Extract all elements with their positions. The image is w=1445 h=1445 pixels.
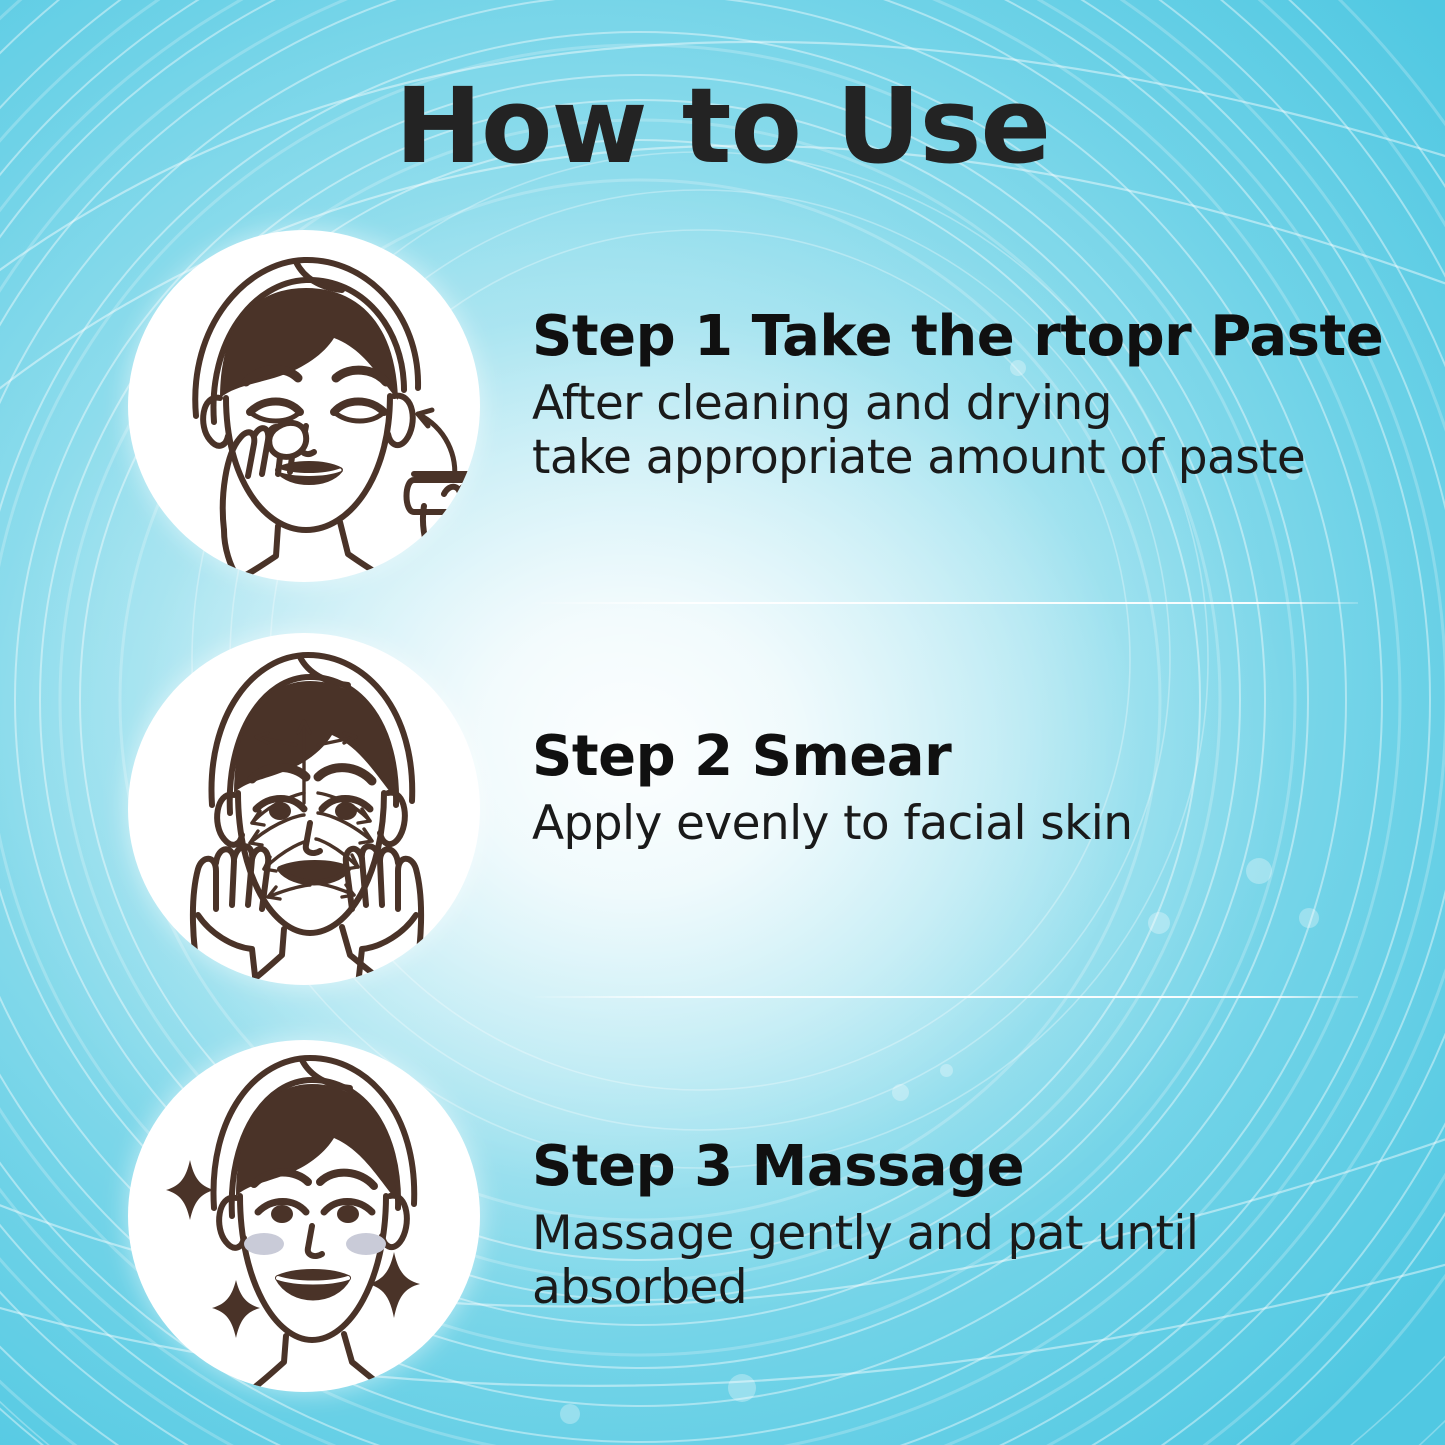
step-2-body: Apply evenly to facial skin — [532, 797, 1405, 852]
step-2-heading: Step 2 Smear — [532, 728, 1405, 787]
bokeh-dot — [940, 1064, 953, 1077]
step-3-text: Step 3 Massage Massage gently and pat un… — [532, 1138, 1405, 1316]
bokeh-dot — [1299, 908, 1319, 928]
bokeh-dot — [1246, 858, 1272, 884]
how-to-use-poster: How to Use — [0, 0, 1445, 1445]
step-3-body-line-1: Massage gently and pat until absorbed — [532, 1207, 1405, 1316]
bokeh-dot — [728, 1374, 756, 1402]
bokeh-dot — [1148, 912, 1170, 934]
bokeh-dot — [892, 1084, 909, 1101]
step-2-body-line-1: Apply evenly to facial skin — [532, 797, 1405, 852]
step-3-body: Massage gently and pat until absorbed — [532, 1207, 1405, 1316]
divider-2 — [535, 996, 1358, 998]
page-title: How to Use — [0, 74, 1445, 178]
divider-1 — [535, 602, 1358, 604]
step-2-text: Step 2 Smear Apply evenly to facial skin — [532, 728, 1405, 851]
step-2-illustration — [128, 633, 480, 985]
step-1-body-line-1: After cleaning and drying — [532, 377, 1405, 432]
bokeh-dot — [560, 1404, 580, 1424]
step-3-illustration — [128, 1040, 480, 1392]
step-1-heading: Step 1 Take the rtopr Paste — [532, 308, 1405, 367]
step-1-body-line-2: take appropriate amount of paste — [532, 431, 1405, 486]
step-1-text: Step 1 Take the rtopr Paste After cleani… — [532, 308, 1405, 486]
step-1-illustration — [128, 230, 480, 582]
step-1-body: After cleaning and drying take appropria… — [532, 377, 1405, 486]
step-3-heading: Step 3 Massage — [532, 1138, 1405, 1197]
